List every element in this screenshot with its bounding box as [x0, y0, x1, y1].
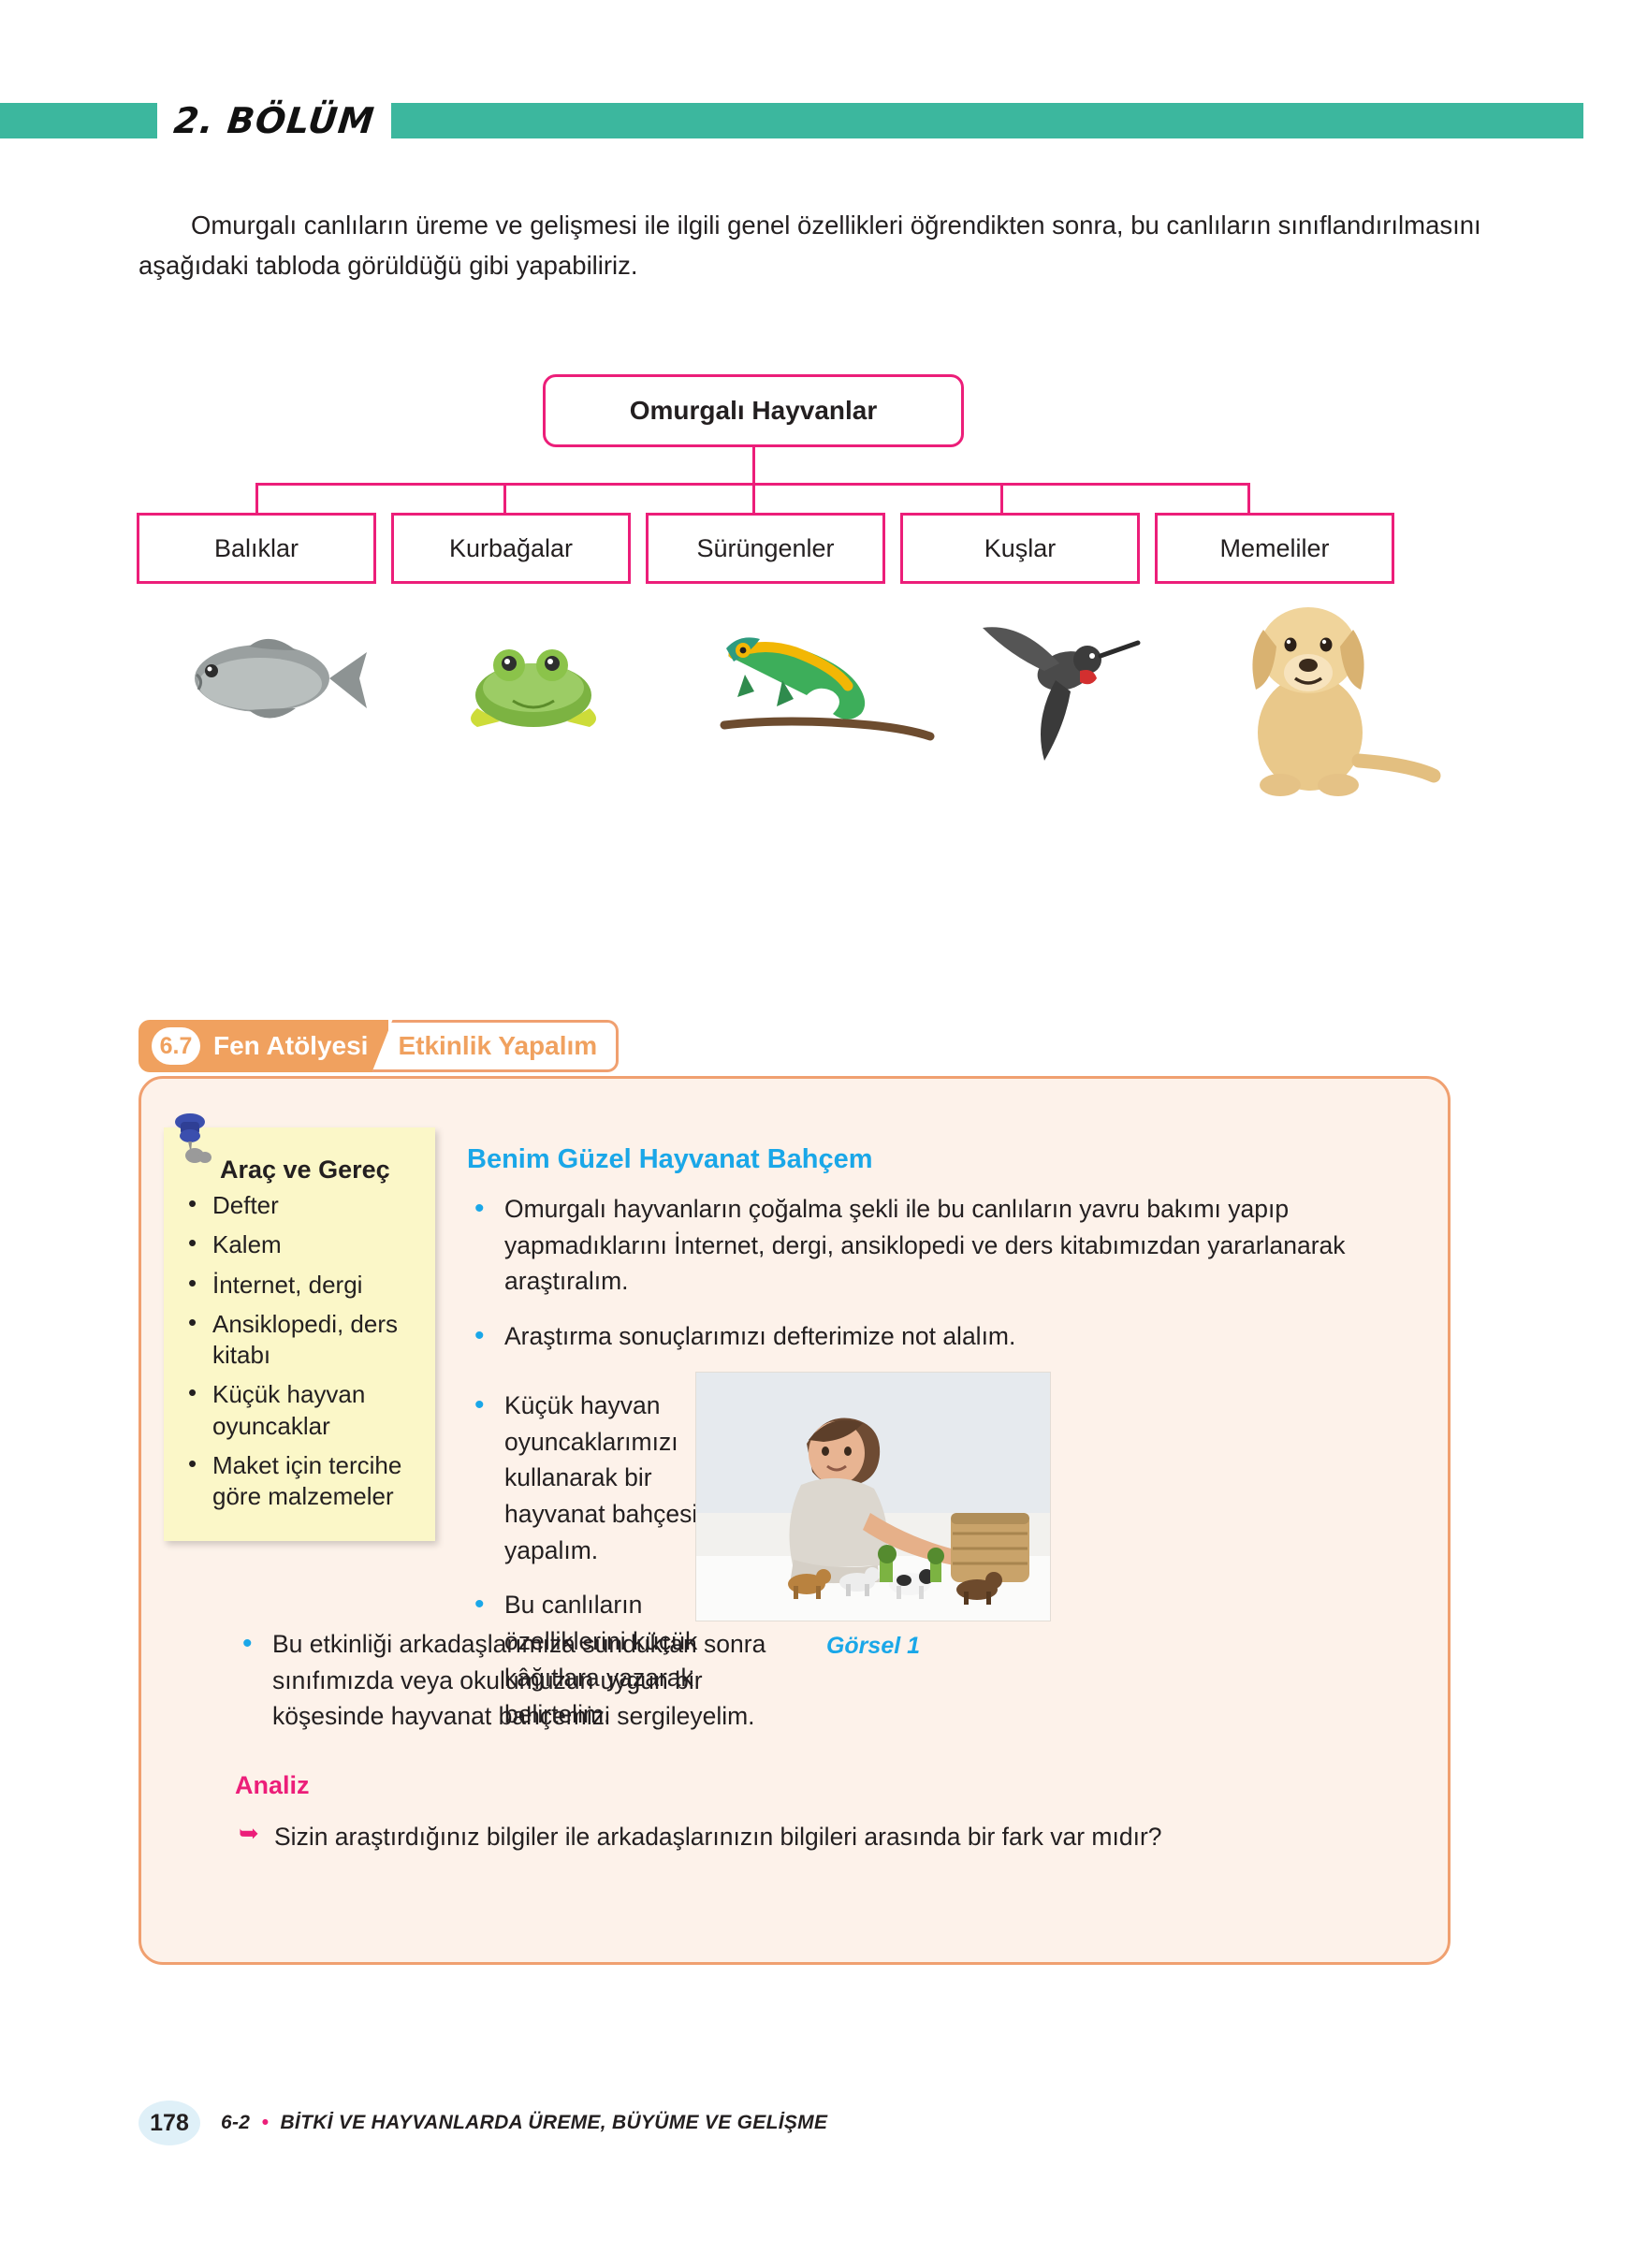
materials-list: Defter Kalem İnternet, dergi Ansiklopedi…	[177, 1190, 420, 1512]
footer-separator-dot: •	[255, 2112, 274, 2133]
chapter-title: 2. BÖLÜM	[157, 103, 391, 138]
leaf-label: Balıklar	[214, 534, 299, 563]
chapter-header: 2. BÖLÜM	[0, 103, 1591, 138]
diagram-leaf-kuslar: Kuşlar	[900, 513, 1140, 584]
diagram-leaf-baliklar: Balıklar	[137, 513, 376, 584]
diagram-root-label: Omurgalı Hayvanlar	[630, 396, 878, 426]
analysis-question: Sizin araştırdığınız bilgiler ile arkada…	[235, 1823, 1377, 1852]
leaf-label: Kuşlar	[984, 534, 1057, 563]
header-bar-right	[391, 103, 1583, 138]
activity-type-label: Etkinlik Yapalım	[398, 1031, 597, 1061]
material-item: Ansiklopedi, ders kitabı	[177, 1309, 420, 1372]
footer-unit-title: BİTKİ VE HAYVANLARDA ÜREME, BÜYÜME VE GE…	[280, 2112, 827, 2133]
connector-leaf-4	[1000, 483, 1003, 513]
footer-unit-info: 6-2 • BİTKİ VE HAYVANLARDA ÜREME, BÜYÜME…	[221, 2112, 827, 2134]
animal-illustration-strip	[131, 585, 1460, 922]
materials-heading: Araç ve Gereç	[220, 1156, 420, 1185]
activity-tab-label: Fen Atölyesi	[213, 1031, 368, 1061]
activity-tab-orange: 6.7 Fen Atölyesi	[139, 1020, 388, 1072]
header-bar-left	[0, 103, 157, 138]
activity-number-badge: 6.7	[152, 1027, 200, 1065]
activity-panel: Araç ve Gereç Defter Kalem İnternet, der…	[139, 1076, 1451, 1965]
dog-illustration	[1198, 592, 1441, 812]
activity-step: Omurgalı hayvanların çoğalma şekli ile b…	[467, 1191, 1403, 1300]
analysis-heading: Analiz	[235, 1771, 310, 1800]
activity-tab-white: Etkinlik Yapalım	[372, 1020, 619, 1072]
textbook-page: 2. BÖLÜM Omurgalı canlıların üreme ve ge…	[0, 0, 1633, 2268]
activity-title: Benim Güzel Hayvanat Bahçem	[467, 1144, 873, 1175]
leaf-label: Memeliler	[1219, 534, 1329, 563]
page-footer: 178 6-2 • BİTKİ VE HAYVANLARDA ÜREME, BÜ…	[139, 2101, 827, 2145]
pushpin-icon	[169, 1111, 220, 1170]
connector-leaf-3	[752, 483, 755, 513]
leaf-label: Sürüngenler	[696, 534, 834, 563]
connector-horizontal-rail	[255, 483, 1247, 486]
hummingbird-illustration	[955, 609, 1160, 773]
diagram-root-box: Omurgalı Hayvanlar	[543, 374, 964, 447]
diagram-leaf-kurbagalar: Kurbağalar	[391, 513, 631, 584]
header-bar-gap	[1583, 103, 1591, 138]
frog-illustration	[440, 628, 627, 741]
activity-tab-header: 6.7 Fen Atölyesi Etkinlik Yapalım	[139, 1020, 619, 1072]
connector-leaf-2	[503, 483, 506, 513]
activity-step: Araştırma sonuçlarımızı defterimize not …	[467, 1318, 1403, 1355]
activity-photo	[695, 1372, 1051, 1621]
fish-illustration	[159, 622, 374, 739]
diagram-leaf-row: Balıklar Kurbağalar Sürüngenler Kuşlar M…	[131, 513, 1460, 584]
connector-leaf-5	[1247, 483, 1250, 513]
material-item: İnternet, dergi	[177, 1270, 420, 1301]
material-item: Defter	[177, 1190, 420, 1221]
material-item: Kalem	[177, 1229, 420, 1260]
leaf-label: Kurbağalar	[449, 534, 573, 563]
chapter-title-text: 2. BÖLÜM	[172, 100, 377, 141]
page-number: 178	[139, 2101, 200, 2145]
material-item: Küçük hayvan oyuncaklar	[177, 1379, 420, 1442]
intro-paragraph: Omurgalı canlıların üreme ve gelişmesi i…	[139, 206, 1486, 285]
connector-root-stem	[752, 447, 755, 483]
diagram-leaf-surungenler: Sürüngenler	[646, 513, 885, 584]
activity-step: Küçük hayvan oyuncaklarımızı kullanarak …	[467, 1388, 701, 1568]
chameleon-illustration	[702, 620, 936, 756]
material-item: Maket için tercihe göre malzemeler	[177, 1450, 420, 1513]
activity-step: Bu etkinliği arkadaşlarımıza sunduktan s…	[235, 1626, 796, 1735]
diagram-leaf-memeliler: Memeliler	[1155, 513, 1394, 584]
connector-leaf-1	[255, 483, 258, 513]
activity-steps-bottom: Bu etkinliği arkadaşlarımıza sunduktan s…	[235, 1626, 796, 1753]
materials-sticky-note: Araç ve Gereç Defter Kalem İnternet, der…	[164, 1127, 435, 1541]
footer-unit-code: 6-2	[221, 2112, 250, 2133]
activity-steps-top: Omurgalı hayvanların çoğalma şekli ile b…	[467, 1191, 1403, 1374]
